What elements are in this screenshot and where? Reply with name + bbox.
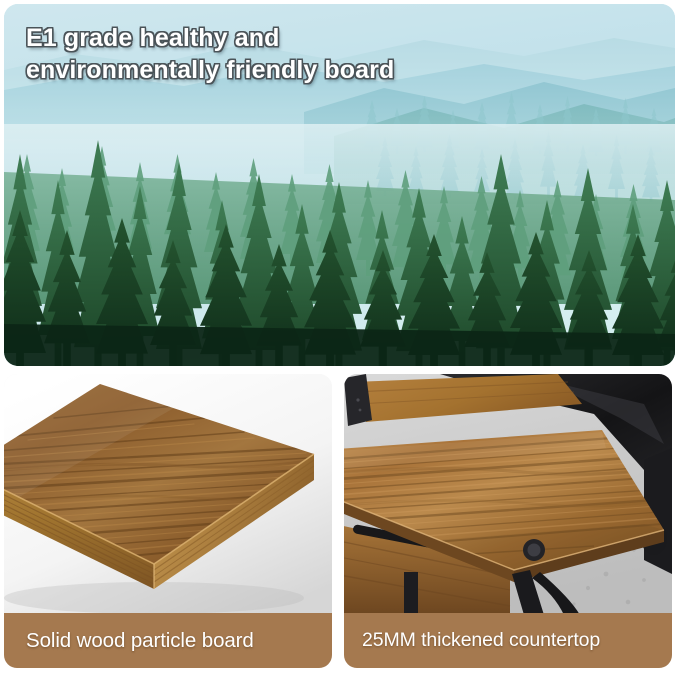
wood-slab-illustration: [4, 374, 332, 615]
panel-solid-wood-particle-board[interactable]: Solid wood particle board: [4, 374, 332, 668]
caption-text-right: 25MM thickened countertop: [362, 629, 600, 652]
desk-corner-illustration: [344, 374, 672, 615]
caption-bar-left: Solid wood particle board: [4, 613, 332, 668]
feature-panels: Solid wood particle board: [0, 374, 679, 670]
caption-bar-right: 25MM thickened countertop: [344, 613, 672, 668]
forest-landscape-illustration: [4, 4, 675, 366]
caption-text-left: Solid wood particle board: [26, 629, 254, 653]
desk-countertop-photo: [344, 374, 672, 615]
product-feature-page: E1 grade healthy and environmentally fri…: [0, 0, 679, 674]
panel-thickened-countertop[interactable]: 25MM thickened countertop: [344, 374, 672, 668]
wood-board-photo: [4, 374, 332, 615]
hero-forest-banner: E1 grade healthy and environmentally fri…: [4, 4, 675, 366]
